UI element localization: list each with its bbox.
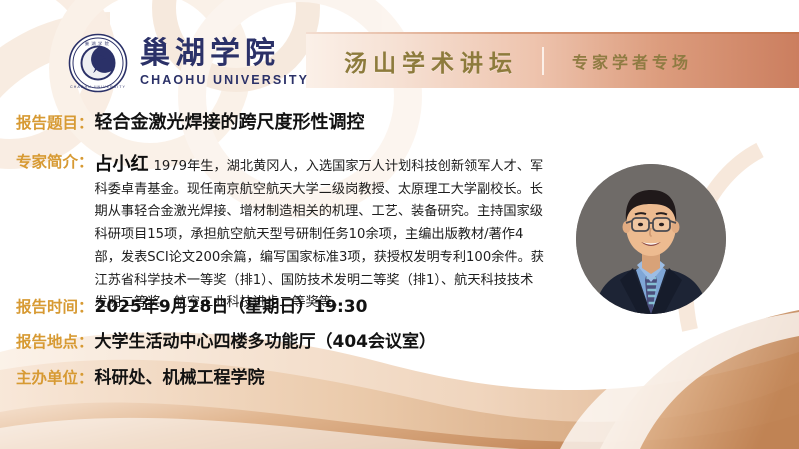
banner-title: 汤山学术讲坛 xyxy=(344,44,518,78)
time-value: 2025年9月28日（星期日）19:30 xyxy=(95,292,368,317)
seminar-poster: 汤山学术讲坛 专家学者专场 巢湖学院 CHAOHU UNIVERSITY 197… xyxy=(0,0,799,449)
time-row: 报告时间： 2025年9月28日（星期日）19:30 xyxy=(16,292,367,317)
time-label: 报告时间： xyxy=(16,295,94,317)
banner-subtitle: 专家学者专场 xyxy=(572,49,692,73)
topic-value: 轻合金激光焊接的跨尺度形性调控 xyxy=(95,108,365,134)
speaker-portrait xyxy=(576,164,726,314)
place-value: 大学生活动中心四楼多功能厅（404会议室） xyxy=(95,327,437,352)
university-name-en: CHAOHU UNIVERSITY xyxy=(140,74,309,87)
speaker-row: 专家简介： 占小红1979年生，湖北黄冈人，入选国家万人计划科技创新领军人才、军… xyxy=(16,150,546,315)
topic-row: 报告题目： 轻合金激光焊接的跨尺度形性调控 xyxy=(16,108,365,134)
topic-label: 报告题目： xyxy=(16,111,94,133)
svg-text:CHAOHU UNIVERSITY: CHAOHU UNIVERSITY xyxy=(70,85,126,89)
university-seal-icon: 巢湖学院 CHAOHU UNIVERSITY 1977 xyxy=(68,33,128,93)
speaker-name: 占小红 xyxy=(95,154,149,175)
svg-text:1977: 1977 xyxy=(95,67,101,71)
host-value: 科研处、机械工程学院 xyxy=(95,363,265,388)
host-label: 主办单位： xyxy=(16,366,94,388)
university-name-cn: 巢湖学院 xyxy=(140,39,309,69)
place-row: 报告地点： 大学生活动中心四楼多功能厅（404会议室） xyxy=(16,327,436,352)
svg-text:巢湖学院: 巢湖学院 xyxy=(85,40,111,47)
banner-separator xyxy=(542,47,544,75)
place-label: 报告地点： xyxy=(16,330,94,352)
speaker-label: 专家简介： xyxy=(16,150,94,172)
academic-forum-banner: 汤山学术讲坛 专家学者专场 xyxy=(306,34,799,88)
speaker-bio-block: 占小红1979年生，湖北黄冈人，入选国家万人计划科技创新领军人才、军科委卓青基金… xyxy=(95,150,545,315)
speaker-bio-text: 1979年生，湖北黄冈人，入选国家万人计划科技创新领军人才、军科委卓青基金。现任… xyxy=(95,159,544,310)
host-row: 主办单位： 科研处、机械工程学院 xyxy=(16,363,265,388)
university-logo: 巢湖学院 CHAOHU UNIVERSITY 1977 巢湖学院 CHAOHU … xyxy=(68,33,309,93)
